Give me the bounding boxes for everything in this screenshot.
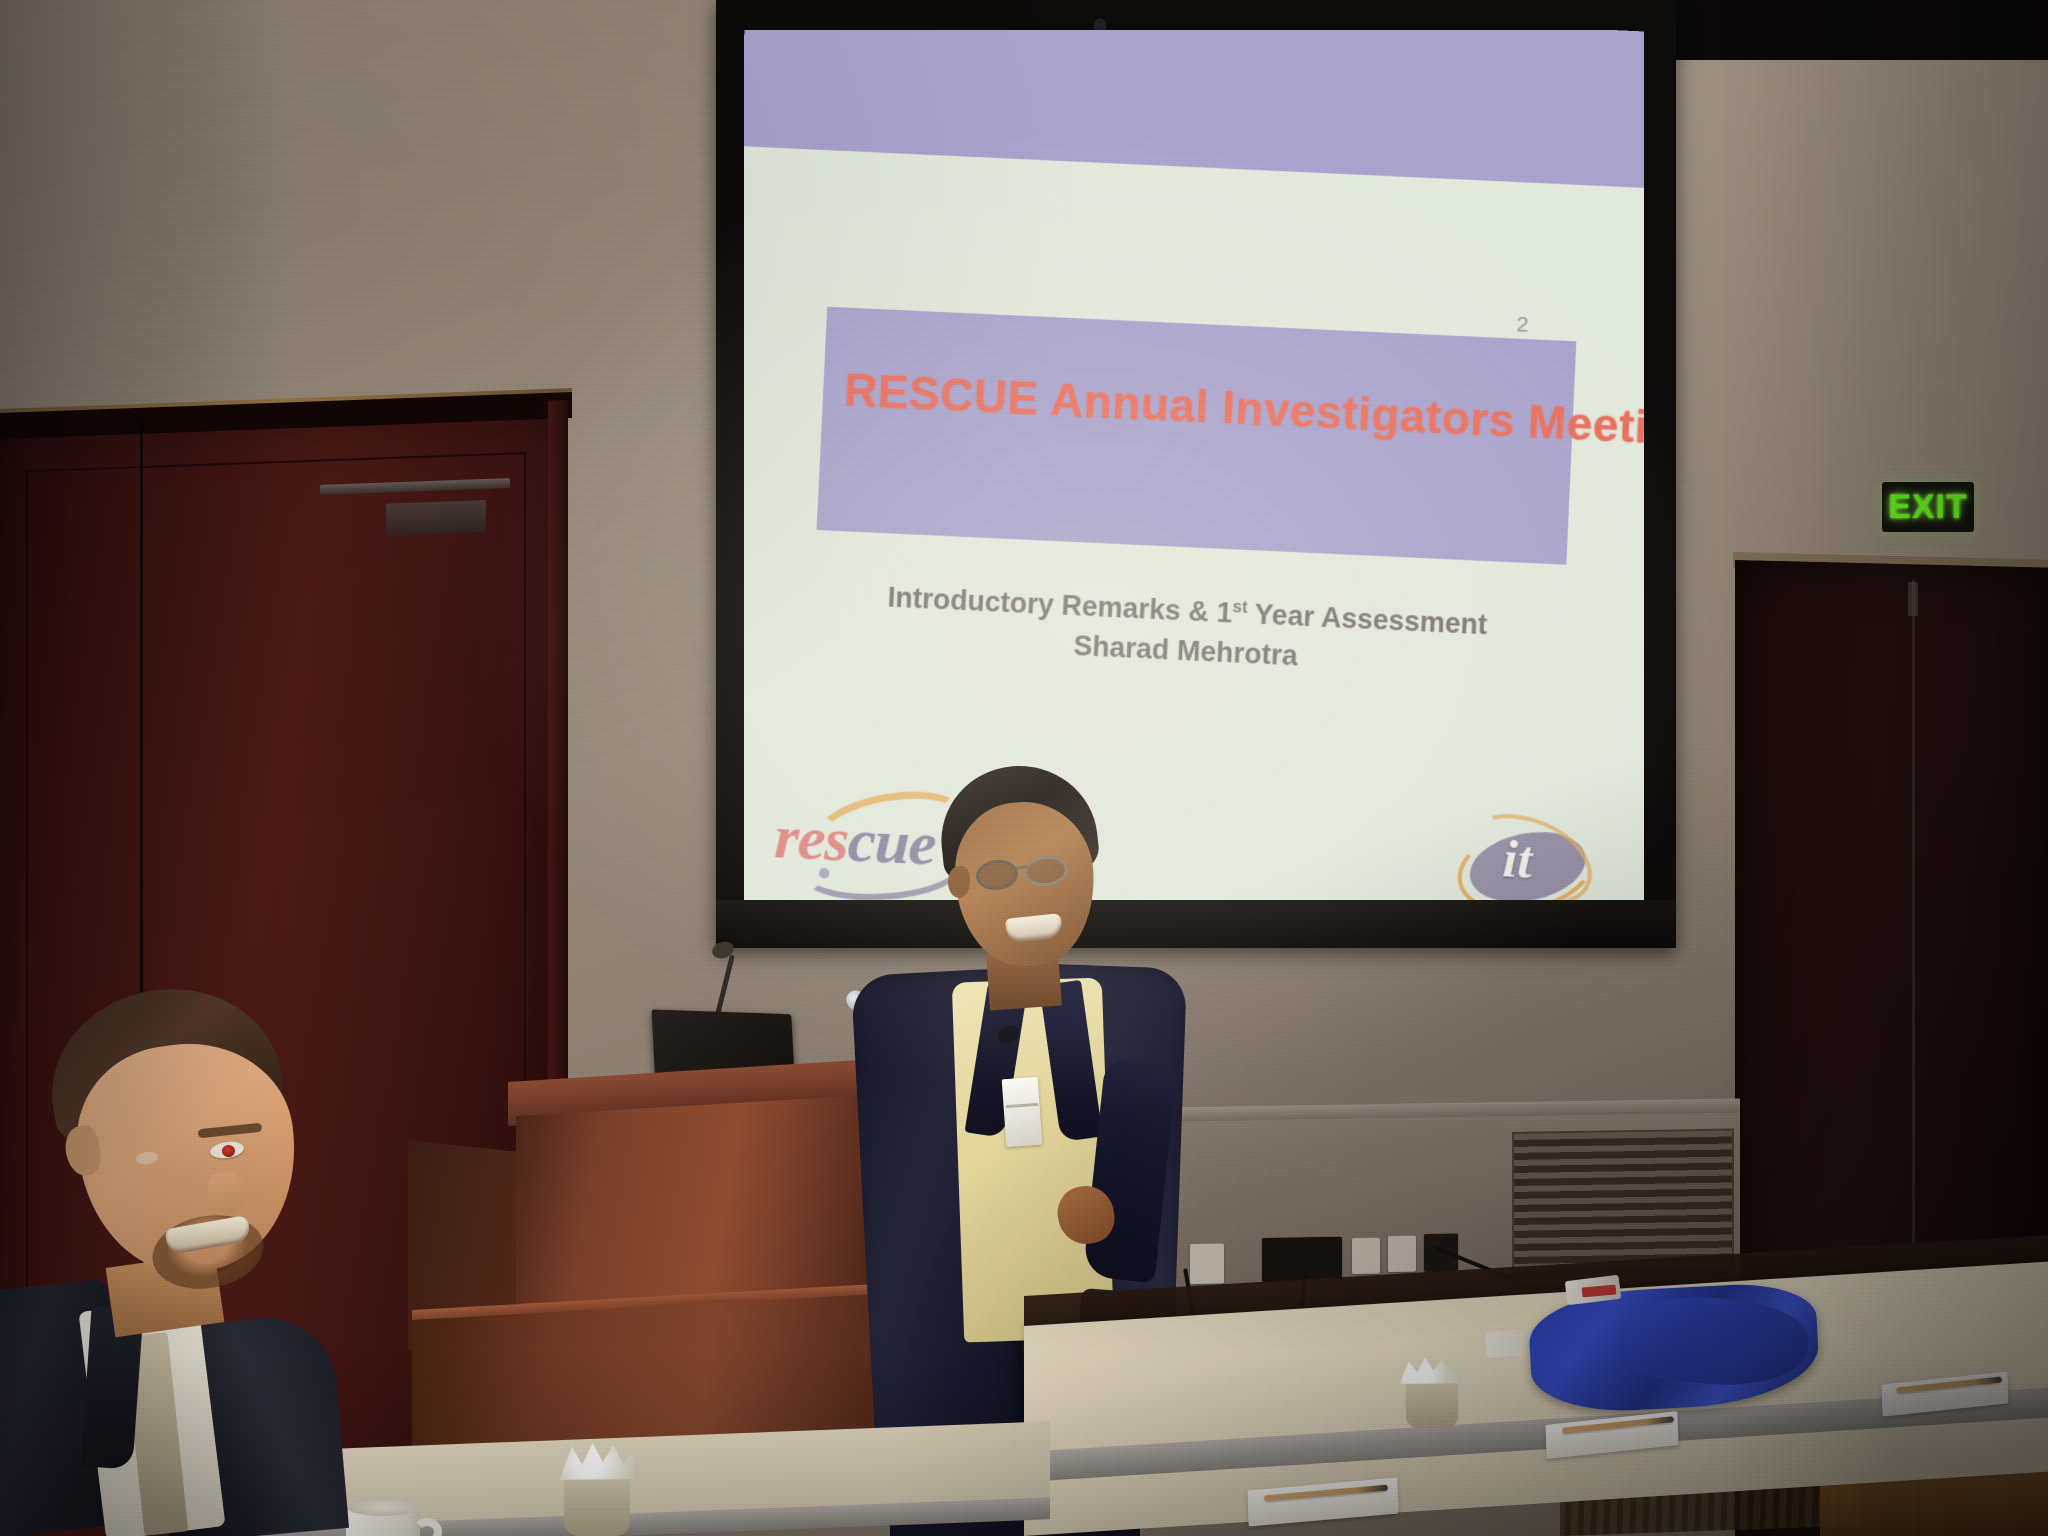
exit-sign: EXIT bbox=[1882, 482, 1974, 532]
exit-sign-label: EXIT bbox=[1888, 490, 1968, 524]
it-logo: it bbox=[1452, 805, 1604, 908]
av-wall-plate bbox=[1262, 1237, 1342, 1282]
slide-page-marker: 2 bbox=[1516, 314, 1529, 336]
it-logo-text: it bbox=[1502, 832, 1533, 886]
right-door-latch-icon bbox=[1908, 582, 1918, 616]
wall-plate-2 bbox=[1352, 1238, 1380, 1274]
wall-plate-3 bbox=[1388, 1236, 1416, 1272]
speaker-ear bbox=[948, 866, 970, 898]
conference-room-photo: EXIT 2 RESCUE Annual Investigators Meeti… bbox=[0, 0, 2048, 1536]
foreground-man-pupil-redeye bbox=[222, 1145, 235, 1157]
slide-subtitle-line1-suffix: Year Assessment bbox=[1247, 598, 1488, 640]
cup-with-napkins[interactable] bbox=[560, 1442, 634, 1536]
speaker-name-badge bbox=[1002, 1077, 1043, 1147]
rescue-logo-text-part1: res bbox=[773, 802, 850, 875]
cup-body bbox=[564, 1476, 630, 1536]
cup-with-napkins[interactable] bbox=[1400, 1356, 1462, 1428]
slide-subtitle-superscript: st bbox=[1232, 599, 1248, 617]
cup-body bbox=[1406, 1382, 1458, 1428]
door-closer-body-icon bbox=[386, 500, 486, 536]
foreground-man-figure bbox=[0, 990, 480, 1536]
